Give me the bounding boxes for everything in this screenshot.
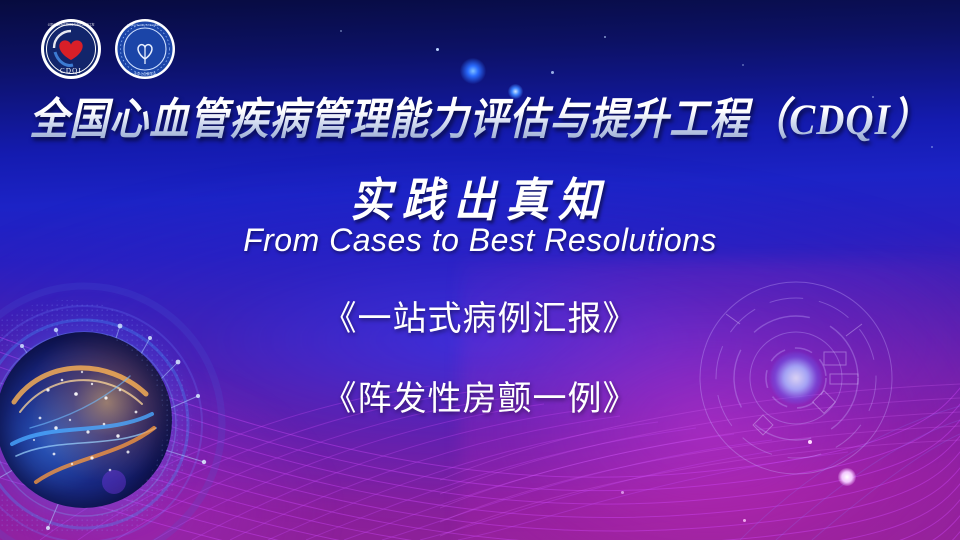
main-title: 全国心血管疾病管理能力评估与提升工程（CDQI） bbox=[0, 85, 960, 148]
slogan-english: From Cases to Best Resolutions bbox=[0, 222, 960, 259]
case-title: 《阵发性房颤一例》 bbox=[0, 371, 960, 420]
case-series-title: 《一站式病例汇报》 bbox=[0, 291, 960, 340]
title-slide: CDQI 全国心血管疾病管理能力评估与提升工程 Beijing Society … bbox=[0, 0, 960, 540]
slogan-chinese: 实践出真知 bbox=[0, 163, 960, 230]
content-layer: 全国心血管疾病管理能力评估与提升工程（CDQI） 实践出真知 From Case… bbox=[0, 0, 960, 540]
